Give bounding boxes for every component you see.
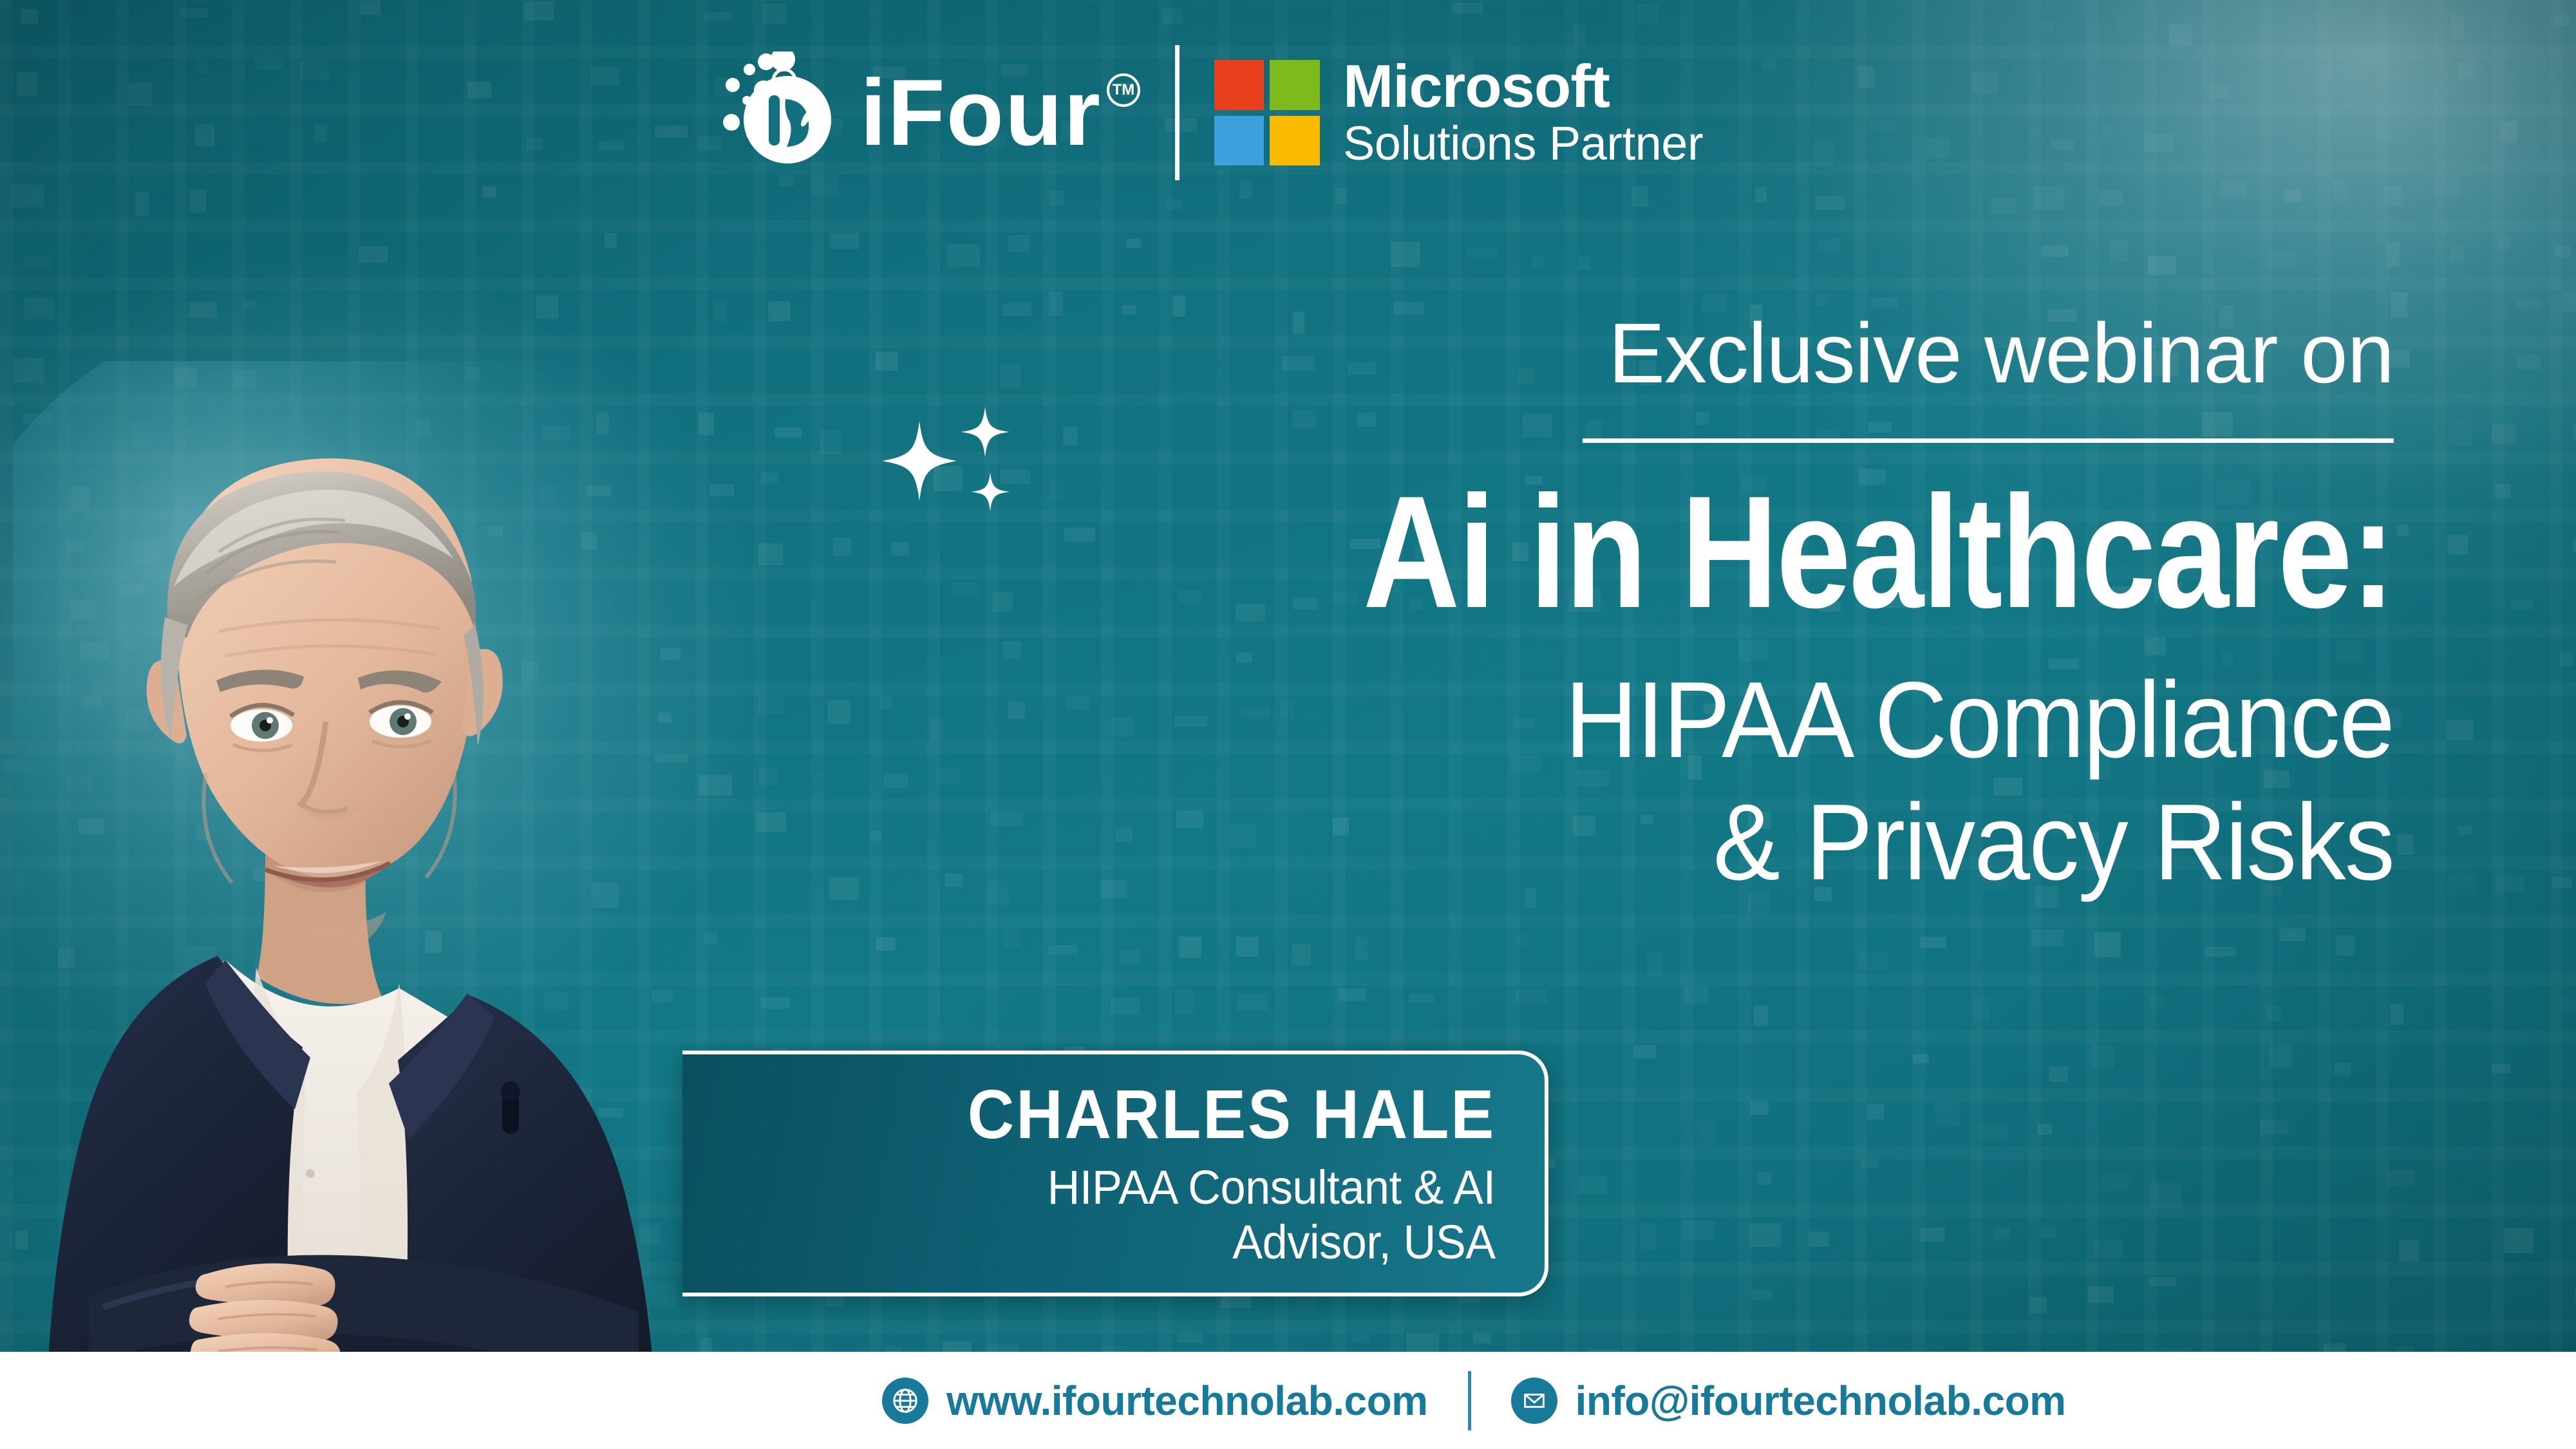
- speaker-name: CHARLES HALE: [968, 1078, 1496, 1150]
- globe-icon: [882, 1378, 928, 1424]
- speaker-role-line-2: Advisor, USA: [1048, 1215, 1496, 1269]
- ifour-wordmark: iFour: [860, 66, 1102, 160]
- hero-main-title: Ai in Healthcare:: [1363, 475, 2394, 628]
- ms-square-red: [1214, 60, 1264, 110]
- hero-text-block: Exclusive webinar on Ai in Healthcare: H…: [836, 309, 2394, 903]
- footer-email-item[interactable]: info@ifourtechnolab.com: [1511, 1377, 2066, 1425]
- ifour-logo[interactable]: iFour TM: [721, 51, 1140, 174]
- ms-square-blue: [1214, 116, 1264, 166]
- hero-subtitle: HIPAA Compliance & Privacy Risks: [945, 659, 2394, 904]
- ms-square-green: [1270, 60, 1320, 110]
- webinar-banner: iFour TM Microsoft Solutions Partner Exc…: [0, 0, 2576, 1449]
- envelope-icon: [1511, 1378, 1557, 1424]
- ifour-circle-dots-logo-icon: [721, 51, 856, 174]
- ms-square-yellow: [1270, 116, 1320, 166]
- footer-email-text[interactable]: info@ifourtechnolab.com: [1575, 1377, 2066, 1425]
- hero-divider-rule: [1583, 438, 2394, 443]
- four-point-star-sparkle-icon: [847, 403, 1053, 545]
- speaker-role-line-1: HIPAA Consultant & AI: [1048, 1161, 1496, 1215]
- microsoft-logo-text: Microsoft Solutions Partner: [1343, 55, 1703, 171]
- speaker-role: HIPAA Consultant & AI Advisor, USA: [1048, 1161, 1496, 1269]
- header-divider: [1175, 45, 1180, 180]
- footer-separator: [1468, 1371, 1471, 1430]
- footer-website-item[interactable]: www.ifourtechnolab.com: [882, 1377, 1428, 1425]
- footer-contact-bar: www.ifourtechnolab.com info@ifourtechnol…: [0, 1352, 2576, 1449]
- hero-title-row: Ai in Healthcare:: [836, 475, 2394, 628]
- webinar-eyebrow: Exclusive webinar on: [836, 309, 2394, 398]
- microsoft-solutions-partner-logo[interactable]: Microsoft Solutions Partner: [1214, 55, 1703, 171]
- hero-subtitle-line-1: HIPAA Compliance: [945, 659, 2394, 781]
- solutions-partner-label: Solutions Partner: [1343, 117, 1703, 171]
- footer-website-text[interactable]: www.ifourtechnolab.com: [946, 1377, 1428, 1425]
- hero-subtitle-line-2: & Privacy Risks: [945, 781, 2394, 904]
- speaker-portrait-photo: [13, 361, 863, 1449]
- microsoft-label: Microsoft: [1343, 55, 1703, 117]
- microsoft-four-squares-logo-icon: [1214, 60, 1320, 165]
- header-logos: iFour TM Microsoft Solutions Partner: [721, 51, 1703, 174]
- trademark-badge: TM: [1107, 73, 1140, 107]
